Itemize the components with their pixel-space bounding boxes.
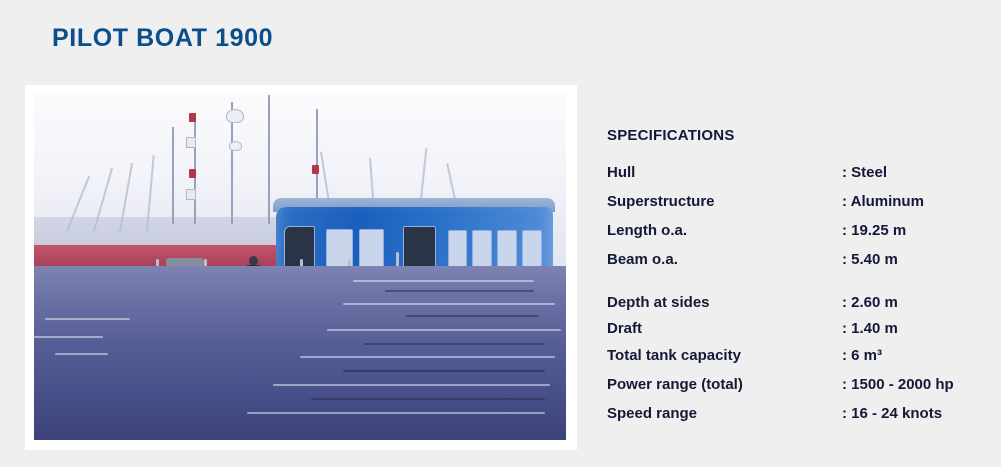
water-ripple bbox=[327, 329, 561, 331]
spec-label-power-range: Power range (total) bbox=[607, 370, 842, 399]
water-ripple bbox=[343, 370, 545, 372]
spec-row-length: Length o.a. : 19.25 m bbox=[607, 216, 987, 245]
spec-row-beam: Beam o.a. : 5.40 m bbox=[607, 245, 987, 274]
spec-row-speed-range: Speed range : 16 - 24 knots bbox=[607, 399, 987, 428]
spec-row-power-range: Power range (total) : 1500 - 2000 hp bbox=[607, 370, 987, 399]
spec-label-length: Length o.a. bbox=[607, 216, 842, 245]
water bbox=[34, 266, 566, 440]
spec-label-tank-capacity: Total tank capacity bbox=[607, 341, 842, 370]
water-ripple bbox=[34, 336, 103, 338]
water-ripple bbox=[385, 290, 534, 292]
spec-label-hull: Hull bbox=[607, 158, 842, 187]
water-ripple bbox=[247, 412, 545, 414]
page-title: PILOT BOAT 1900 bbox=[52, 24, 273, 53]
navigation-light-icon bbox=[312, 165, 319, 174]
spec-value-power-range: : 1500 - 2000 hp bbox=[842, 370, 987, 399]
window bbox=[472, 230, 491, 267]
water-ripple bbox=[55, 353, 108, 355]
spec-value-hull: : Steel bbox=[842, 158, 987, 187]
spec-row-tank-capacity: Total tank capacity : 6 m³ bbox=[607, 341, 987, 370]
window bbox=[522, 230, 541, 267]
spec-value-speed-range: : 16 - 24 knots bbox=[842, 399, 987, 428]
water-ripple bbox=[311, 398, 545, 400]
radar-dome-icon bbox=[229, 141, 242, 151]
spec-value-tank-capacity: : 6 m³ bbox=[842, 341, 987, 370]
window bbox=[448, 230, 467, 267]
spec-label-draft: Draft bbox=[607, 315, 842, 341]
spec-value-beam: : 5.40 m bbox=[842, 245, 987, 274]
water-ripple bbox=[406, 315, 539, 317]
specifications-heading: SPECIFICATIONS bbox=[607, 127, 987, 144]
window bbox=[359, 229, 384, 270]
spec-row-depth: Depth at sides : 2.60 m bbox=[607, 274, 987, 315]
pilot-boat-photo: SL TAMARI bbox=[34, 92, 566, 440]
navigation-light-icon bbox=[189, 169, 196, 178]
water-ripple bbox=[364, 343, 545, 345]
spec-label-superstructure: Superstructure bbox=[607, 187, 842, 216]
mast-box bbox=[186, 137, 196, 148]
specifications-panel: SPECIFICATIONS Hull : Steel Superstructu… bbox=[607, 127, 987, 428]
spec-row-hull: Hull : Steel bbox=[607, 158, 987, 187]
specifications-table: Hull : Steel Superstructure : Aluminum L… bbox=[607, 158, 987, 428]
mast bbox=[268, 95, 270, 224]
mast-box bbox=[186, 189, 196, 200]
spec-label-beam: Beam o.a. bbox=[607, 245, 842, 274]
spec-row-superstructure: Superstructure : Aluminum bbox=[607, 187, 987, 216]
water-ripple bbox=[45, 318, 130, 320]
spec-value-length: : 19.25 m bbox=[842, 216, 987, 245]
water-ripple bbox=[353, 280, 534, 282]
window bbox=[497, 230, 516, 267]
water-ripple bbox=[273, 384, 550, 386]
spec-value-draft: : 1.40 m bbox=[842, 315, 987, 341]
navigation-light-icon bbox=[189, 113, 196, 122]
water-ripple bbox=[343, 303, 556, 305]
spec-value-depth: : 2.60 m bbox=[842, 274, 987, 315]
radar-dome-icon bbox=[226, 109, 244, 123]
mast bbox=[172, 127, 174, 224]
spec-value-superstructure: : Aluminum bbox=[842, 187, 987, 216]
page-root: PILOT BOAT 1900 bbox=[0, 0, 1001, 467]
water-ripple bbox=[300, 356, 555, 358]
spec-label-speed-range: Speed range bbox=[607, 399, 842, 428]
photo-frame: SL TAMARI bbox=[25, 85, 577, 450]
spec-label-depth: Depth at sides bbox=[607, 274, 842, 315]
spec-row-draft: Draft : 1.40 m bbox=[607, 315, 987, 341]
